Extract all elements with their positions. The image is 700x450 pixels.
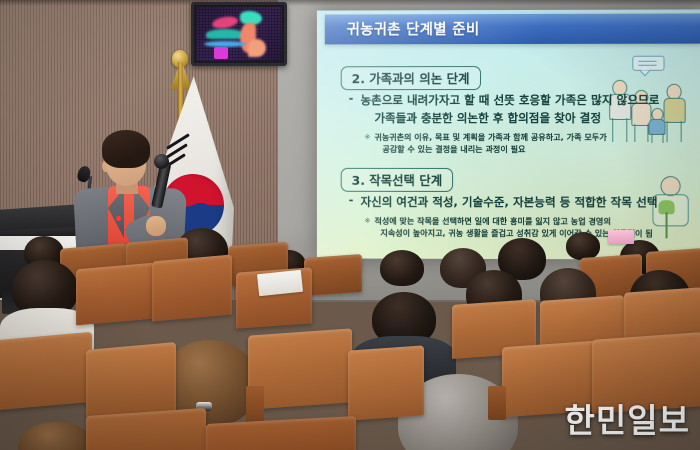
slide-section2-sub2: 공감할 수 있는 결정을 내리는 과정이 필요: [382, 144, 525, 155]
slide-section3-sub1: 적성에 맞는 작목을 선택하면 일에 대한 흥미를 잃지 않고 농업 경영의: [374, 216, 610, 227]
family-member-father: [608, 80, 630, 142]
sub-bullet-marker: ※: [365, 133, 371, 141]
audience-head: [380, 250, 424, 286]
presenter-hand: [146, 216, 166, 236]
presenter-hair: [102, 130, 150, 168]
audience-head: [18, 422, 94, 450]
seat-back: [304, 254, 362, 296]
presentation-slide: 귀농귀촌 단계별 준비: [317, 9, 700, 259]
slide-section3-line1: 자신의 여건과 적성, 기술수준, 자본능력 등 적합한 작목 선택: [361, 194, 658, 210]
slide-section-heading-2: 2. 가족과의 의논 단계: [341, 66, 481, 90]
family-member-grandparent: [663, 84, 685, 142]
audience-head: [566, 232, 600, 260]
seat-back: [76, 263, 154, 326]
audience-paper: [608, 230, 634, 244]
seat-back: [86, 342, 176, 418]
slide-section2-line2: 가족들과 충분한 의논한 후 합의점을 찾아 결정: [374, 110, 601, 126]
slide-section2-line1: 농촌으로 내려가자고 할 때 선뜻 호응할 가족은 많지 않으므로: [361, 92, 660, 108]
sub-bullet-marker: ※: [365, 217, 371, 225]
led-display-panel: [191, 2, 287, 66]
bullet-dash: -: [349, 193, 354, 207]
watermark-logo: 한민일보: [565, 394, 690, 442]
slide-section-heading-3: 3. 작목선택 단계: [341, 168, 454, 192]
speech-bubble-icon: [632, 56, 664, 71]
projection-screen: 귀농귀촌 단계별 준비: [317, 9, 700, 259]
audience-paper: [257, 270, 303, 296]
seat-back: [0, 332, 92, 410]
ceiling-edge: [0, 0, 700, 6]
seat-back: [348, 345, 424, 420]
bullet-dash: -: [349, 91, 354, 105]
seat-armrest: [246, 386, 264, 424]
presenter-badge: [116, 216, 121, 221]
seat-armrest: [488, 386, 506, 420]
slide-body: 2. 가족과의 의논 단계 - 농촌으로 내려가자고 할 때 선뜻 호응할 가족…: [317, 44, 700, 260]
seat-back: [152, 255, 232, 322]
slide-section2-sub1: 귀농귀촌의 이유, 목표 및 계획을 가족과 함께 공유하고, 가족 모두가: [374, 132, 606, 143]
slide-title-bar: 귀농귀촌 단계별 준비: [325, 13, 700, 44]
photo-scene: 귀농귀촌 단계별 준비: [0, 0, 700, 450]
seat-back: [86, 408, 206, 450]
slide-title: 귀농귀촌 단계별 준비: [347, 18, 480, 39]
led-display-screen: [196, 7, 282, 61]
